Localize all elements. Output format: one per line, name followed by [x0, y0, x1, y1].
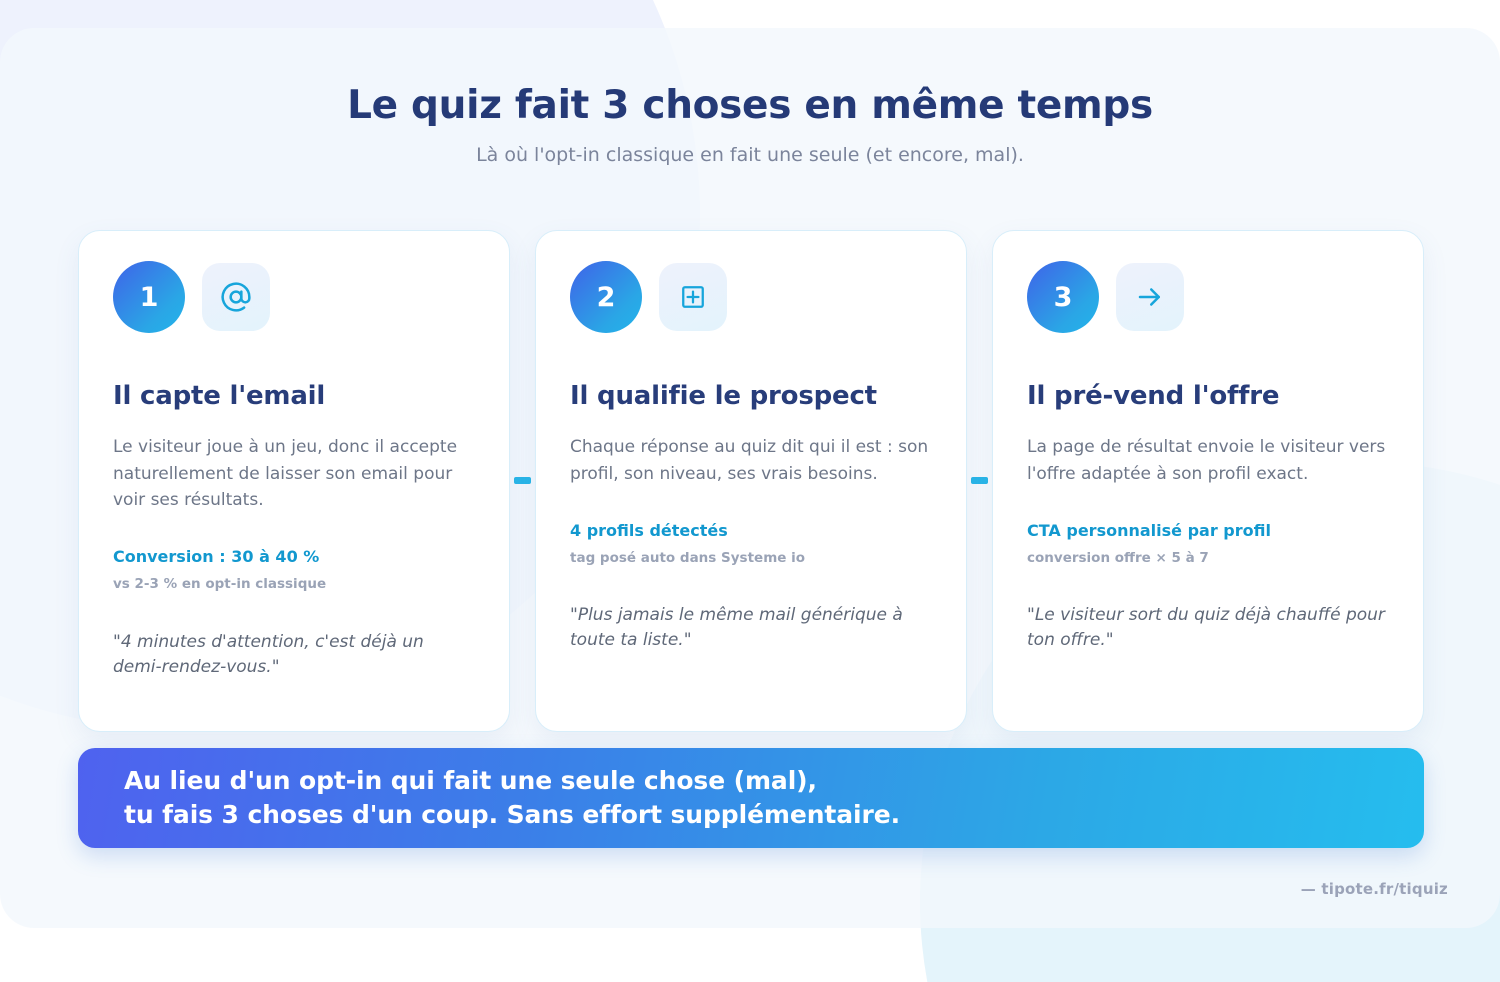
card-1-description: Le visiteur joue à un jeu, donc il accep…: [113, 434, 475, 513]
summary-banner-line-2: tu fais 3 choses d'un coup. Sans effort …: [124, 798, 900, 833]
card-2-header: 2: [570, 261, 932, 333]
card-1-stat-main: Conversion : 30 à 40 %: [113, 547, 475, 568]
card-3-stat-main: CTA personnalisé par profil: [1027, 521, 1389, 542]
card-3-stat-sub: conversion offre × 5 à 7: [1027, 550, 1389, 568]
header: Le quiz fait 3 choses en même temps Là o…: [0, 84, 1500, 168]
card-3-stat: CTA personnalisé par profil conversion o…: [1027, 521, 1389, 567]
card-1-stat-sub: vs 2-3 % en opt-in classique: [113, 576, 475, 594]
step-number-badge-3: 3: [1027, 261, 1099, 333]
card-3-title: Il pré-vend l'offre: [1027, 381, 1389, 412]
at-sign-icon: [202, 263, 270, 331]
step-number-badge-2: 2: [570, 261, 642, 333]
card-2-stat-sub: tag posé auto dans Systeme io: [570, 550, 932, 568]
summary-banner: Au lieu d'un opt-in qui fait une seule c…: [78, 748, 1424, 848]
card-1-title: Il capte l'email: [113, 381, 475, 412]
card-1-stat: Conversion : 30 à 40 % vs 2-3 % en opt-i…: [113, 547, 475, 593]
card-2-description: Chaque réponse au quiz dit qui il est : …: [570, 434, 932, 487]
card-3-header: 3: [1027, 261, 1389, 333]
benefit-card-2: 2 Il qualifie le prospect Chaque réponse…: [535, 230, 967, 732]
card-2-stat-main: 4 profils détectés: [570, 521, 932, 542]
card-2-stat: 4 profils détectés tag posé auto dans Sy…: [570, 521, 932, 567]
card-1-quote: "4 minutes d'attention, c'est déjà un de…: [113, 630, 475, 680]
benefit-card-1: 1 Il capte l'email Le visiteur joue à un…: [78, 230, 510, 732]
footer-credit: — tipote.fr/tiquiz: [1301, 880, 1448, 898]
card-2-quote: "Plus jamais le même mail générique à to…: [570, 603, 932, 653]
step-number-badge-1: 1: [113, 261, 185, 333]
card-connector-1-2: [510, 230, 535, 732]
infographic-stage: Le quiz fait 3 choses en même temps Là o…: [0, 0, 1500, 982]
card-connector-2-3: [967, 230, 992, 732]
connector-dash-icon: [514, 477, 531, 484]
connector-dash-icon: [971, 477, 988, 484]
summary-banner-line-1: Au lieu d'un opt-in qui fait une seule c…: [124, 764, 900, 799]
summary-banner-text: Au lieu d'un opt-in qui fait une seule c…: [124, 764, 900, 833]
card-3-quote: "Le visiteur sort du quiz déjà chauffé p…: [1027, 603, 1389, 653]
grid-plus-icon: [659, 263, 727, 331]
cards-row: 1 Il capte l'email Le visiteur joue à un…: [78, 230, 1424, 732]
card-3-description: La page de résultat envoie le visiteur v…: [1027, 434, 1389, 487]
benefit-card-3: 3 Il pré-vend l'offre La page de résulta…: [992, 230, 1424, 732]
page-subtitle: Là où l'opt-in classique en fait une seu…: [0, 143, 1500, 168]
card-2-title: Il qualifie le prospect: [570, 381, 932, 412]
card-1-header: 1: [113, 261, 475, 333]
arrow-right-icon: [1116, 263, 1184, 331]
page-title: Le quiz fait 3 choses en même temps: [0, 84, 1500, 129]
